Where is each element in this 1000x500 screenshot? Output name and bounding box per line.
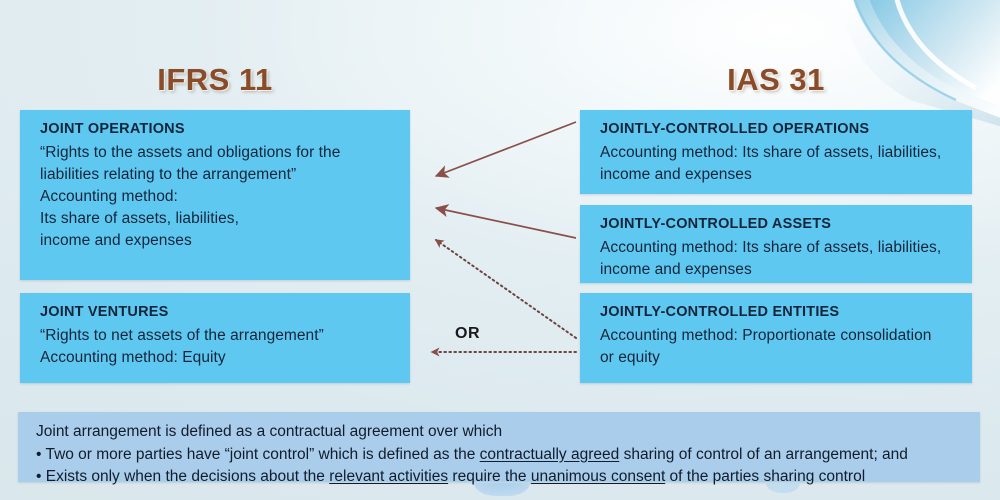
bottom-tab-decoration bbox=[474, 483, 530, 496]
bullet2-underlined: relevant activities bbox=[329, 468, 448, 485]
box-line: Accounting method: Equity bbox=[40, 347, 394, 369]
box-line: or equity bbox=[600, 347, 956, 369]
definition-bullet-1: • Two or more parties have “joint contro… bbox=[36, 444, 964, 467]
heading-ifrs-11: IFRS 11 bbox=[20, 62, 410, 98]
box-joint-ventures[interactable]: JOINT VENTURES “Rights to net assets of … bbox=[20, 293, 410, 383]
box-jointly-controlled-assets[interactable]: JOINTLY-CONTROLLED ASSETS Accounting met… bbox=[580, 205, 972, 283]
arrow-jce-to-joint-operations bbox=[436, 240, 576, 338]
box-joint-operations[interactable]: JOINT OPERATIONS “Rights to the assets a… bbox=[20, 110, 410, 280]
box-title: JOINTLY-CONTROLLED ENTITIES bbox=[600, 303, 956, 321]
arrow-jca-to-joint-operations bbox=[436, 208, 576, 238]
box-title: JOINTLY-CONTROLLED ASSETS bbox=[600, 215, 956, 233]
bullet1-prefix: • Two or more parties have “joint contro… bbox=[36, 446, 480, 463]
bullet2-underlined-2: unanimous consent bbox=[531, 468, 665, 485]
definition-panel: Joint arrangement is defined as a contra… bbox=[18, 412, 980, 482]
box-line: income and expenses bbox=[40, 230, 394, 252]
box-line: liabilities relating to the arrangement” bbox=[40, 164, 394, 186]
slide-canvas: IFRS 11 IAS 31 JOINT OPERATIONS “Rights … bbox=[0, 0, 1000, 500]
bullet2-prefix: • Exists only when the decisions about t… bbox=[36, 468, 329, 485]
bottom-tab-decoration-secondary bbox=[766, 483, 800, 493]
box-line: income and expenses bbox=[600, 164, 956, 186]
box-line: Accounting method: Its share of assets, … bbox=[600, 142, 956, 164]
box-jointly-controlled-operations[interactable]: JOINTLY-CONTROLLED OPERATIONS Accounting… bbox=[580, 110, 972, 194]
box-line: Its share of assets, liabilities, bbox=[40, 208, 394, 230]
bullet1-suffix: sharing of control of an arrangement; an… bbox=[619, 446, 908, 463]
box-line: “Rights to the assets and obligations fo… bbox=[40, 142, 394, 164]
box-line: income and expenses bbox=[600, 259, 956, 281]
box-line: “Rights to net assets of the arrangement… bbox=[40, 325, 394, 347]
definition-intro: Joint arrangement is defined as a contra… bbox=[36, 421, 964, 444]
box-line: Accounting method: Proportionate consoli… bbox=[600, 325, 956, 347]
box-title: JOINT OPERATIONS bbox=[40, 120, 394, 138]
or-label: OR bbox=[455, 325, 480, 343]
box-jointly-controlled-entities[interactable]: JOINTLY-CONTROLLED ENTITIES Accounting m… bbox=[580, 293, 972, 383]
arrow-jco-to-joint-operations bbox=[436, 122, 576, 176]
box-line: Accounting method: Its share of assets, … bbox=[600, 237, 956, 259]
box-line: Accounting method: bbox=[40, 186, 394, 208]
box-title: JOINTLY-CONTROLLED OPERATIONS bbox=[600, 120, 956, 138]
heading-ias-31: IAS 31 bbox=[580, 62, 972, 98]
bullet1-underlined: contractually agreed bbox=[480, 446, 620, 463]
box-title: JOINT VENTURES bbox=[40, 303, 394, 321]
